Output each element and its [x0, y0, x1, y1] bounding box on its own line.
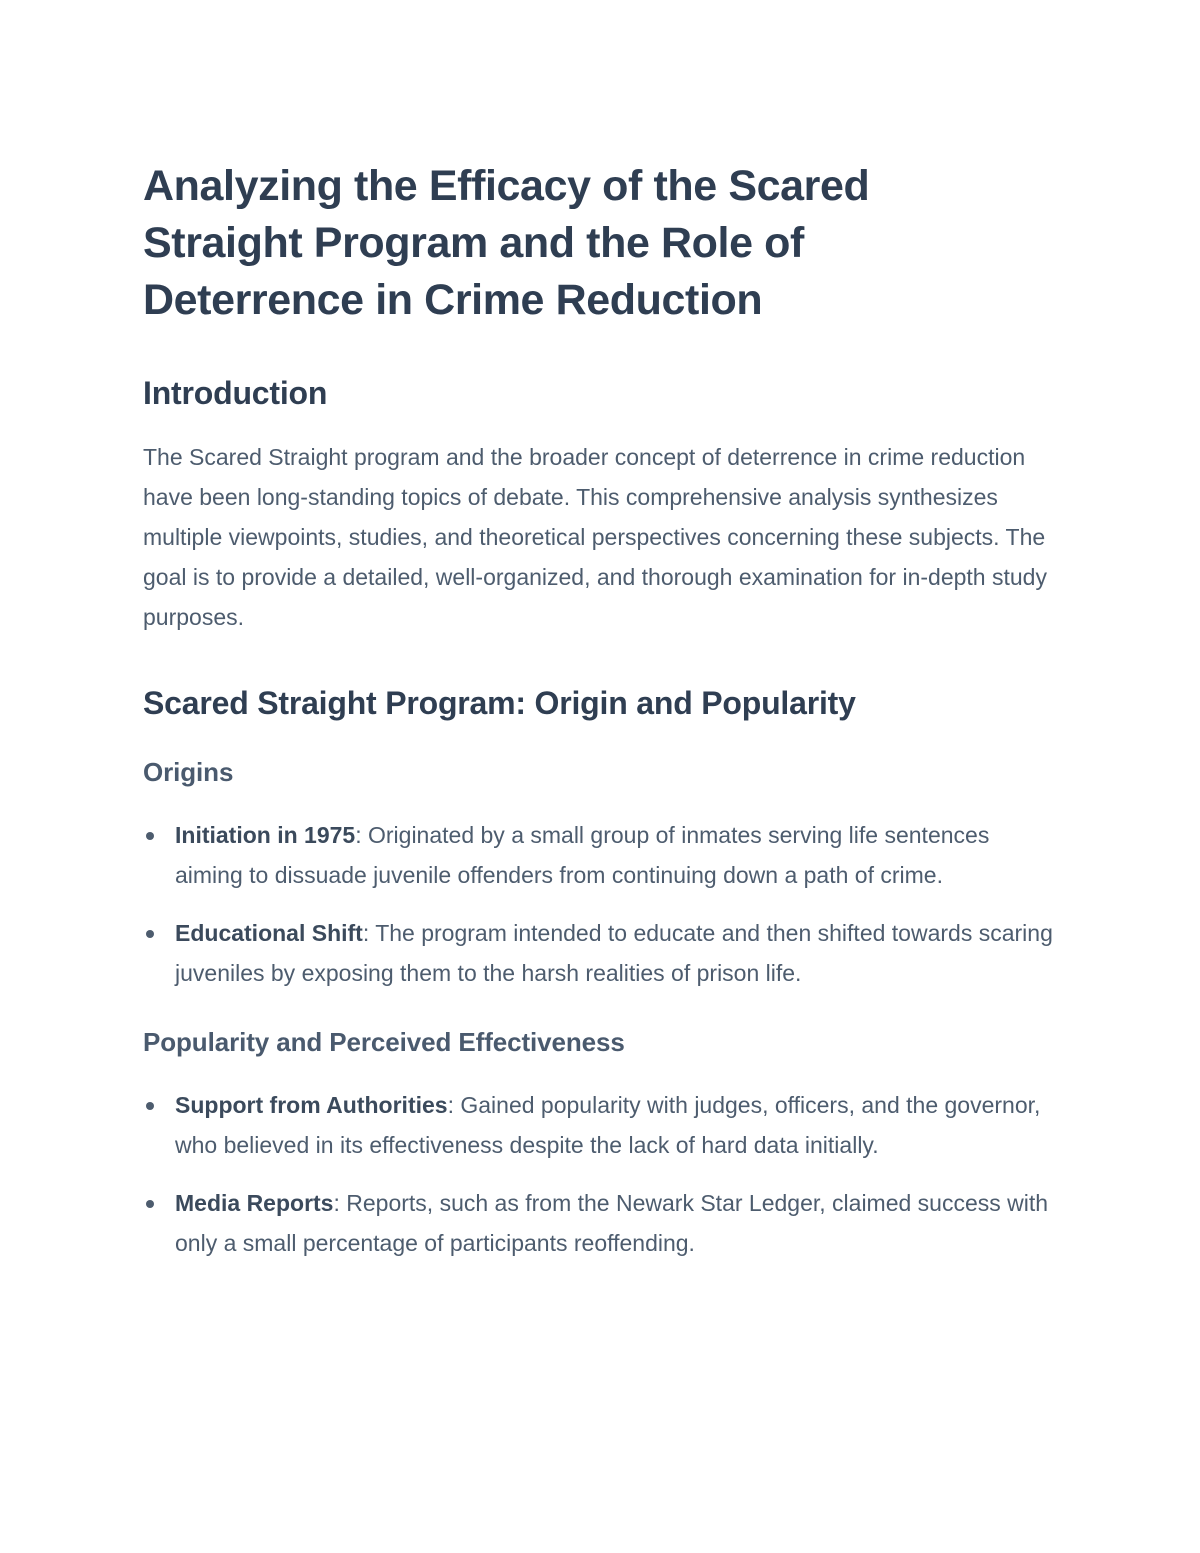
bullet-lead-label: Educational Shift	[175, 920, 363, 946]
section-heading-introduction: Introduction	[143, 373, 1055, 413]
bullet-dot-icon	[146, 832, 154, 840]
introduction-paragraph: The Scared Straight program and the broa…	[143, 437, 1055, 637]
list-item: Initiation in 1975: Originated by a smal…	[143, 815, 1055, 895]
list-item: Support from Authorities: Gained popular…	[143, 1085, 1055, 1165]
bullet-dot-icon	[146, 1102, 154, 1110]
list-item: Educational Shift: The program intended …	[143, 913, 1055, 993]
section-heading-origin-popularity: Scared Straight Program: Origin and Popu…	[143, 683, 1055, 723]
subsection-heading-origins: Origins	[143, 755, 1055, 789]
popularity-bullet-list: Support from Authorities: Gained popular…	[143, 1085, 1055, 1263]
bullet-lead-label: Initiation in 1975	[175, 822, 355, 848]
bullet-dot-icon	[146, 930, 154, 938]
list-item: Media Reports: Reports, such as from the…	[143, 1183, 1055, 1263]
subsection-heading-popularity-effectiveness: Popularity and Perceived Effectiveness	[143, 1025, 1055, 1059]
document-page: Analyzing the Efficacy of the Scared Str…	[0, 0, 1200, 1553]
bullet-lead-label: Media Reports	[175, 1190, 333, 1216]
origins-bullet-list: Initiation in 1975: Originated by a smal…	[143, 815, 1055, 993]
document-content: Analyzing the Efficacy of the Scared Str…	[143, 158, 1055, 1263]
bullet-lead-label: Support from Authorities	[175, 1092, 448, 1118]
page-title: Analyzing the Efficacy of the Scared Str…	[143, 158, 1003, 329]
bullet-dot-icon	[146, 1200, 154, 1208]
